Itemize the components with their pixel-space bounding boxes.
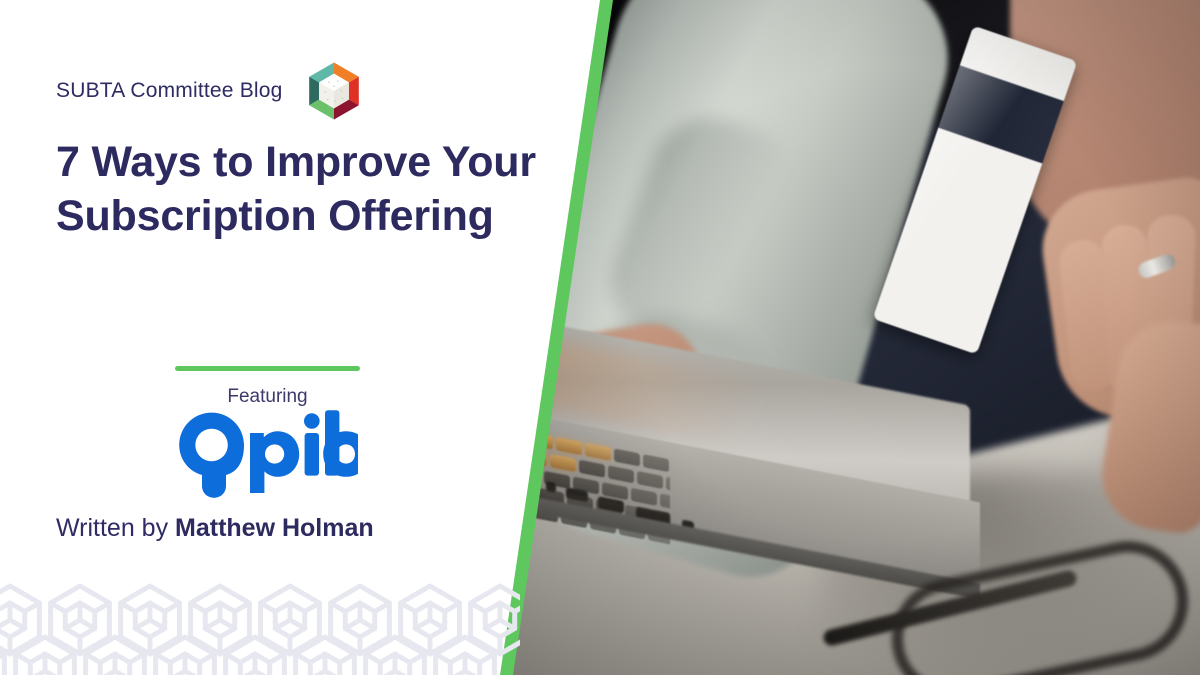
byline-author: Matthew Holman xyxy=(175,514,374,542)
subta-hex-cube-icon xyxy=(303,60,365,122)
page-title: 7 Ways to Improve Your Subscription Offe… xyxy=(56,135,556,243)
green-rule-divider xyxy=(175,366,360,371)
blog-hero-banner: SUBTA Committee Blog xyxy=(0,0,1200,675)
byline: Written by Matthew Holman xyxy=(56,514,374,543)
hexagon-cube-pattern xyxy=(0,575,520,675)
byline-prefix: Written by xyxy=(56,514,168,542)
featuring-label: Featuring xyxy=(175,386,360,408)
kicker-row: SUBTA Committee Blog xyxy=(56,60,365,122)
text-panel: SUBTA Committee Blog xyxy=(0,0,600,675)
blog-kicker-label: SUBTA Committee Blog xyxy=(56,79,283,103)
